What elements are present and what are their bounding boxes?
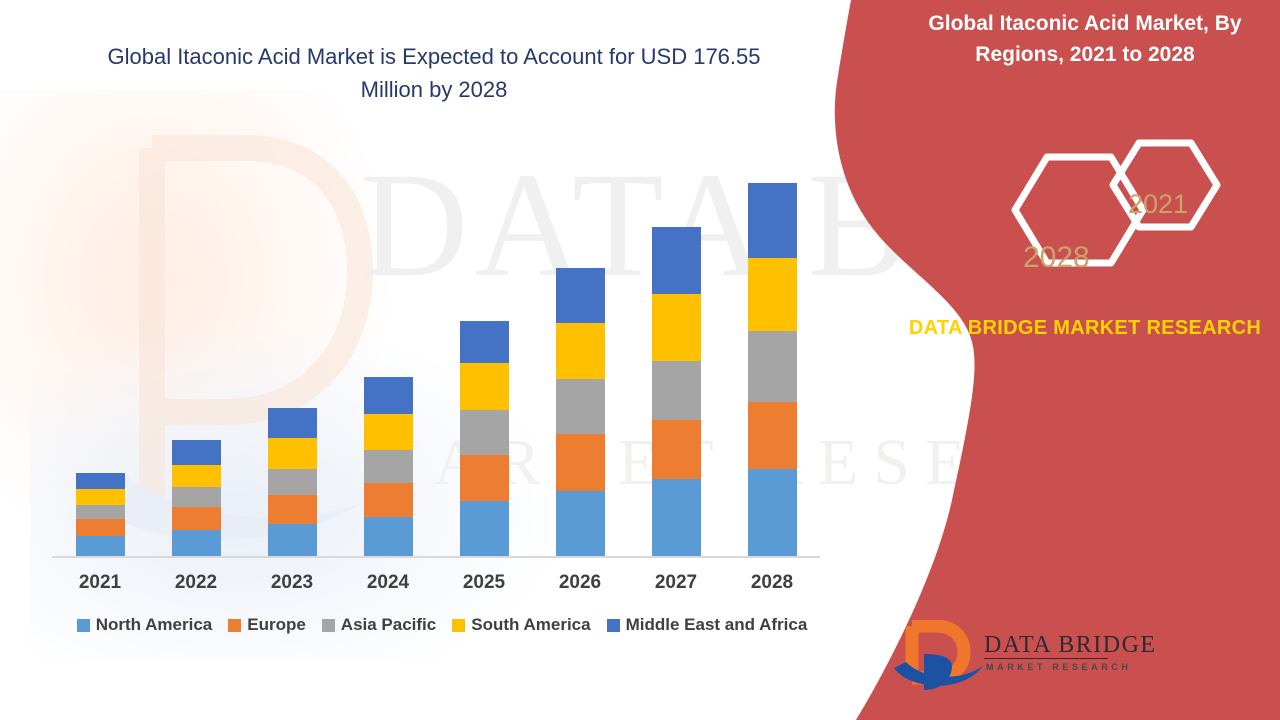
bar-column (724, 150, 820, 556)
logo-divider (984, 658, 1108, 659)
legend-item[interactable]: North America (77, 615, 213, 635)
legend-swatch-icon (452, 619, 465, 632)
bar-segment (460, 455, 509, 502)
bar-segment (556, 379, 605, 434)
bar-column (532, 150, 628, 556)
bar-segment (268, 495, 317, 523)
bar-segment (364, 483, 413, 518)
bar-column (340, 150, 436, 556)
bar-segment (652, 479, 701, 556)
bar-column (52, 150, 148, 556)
legend-item-label: Europe (247, 615, 306, 635)
x-axis-tick-label: 2026 (532, 572, 628, 594)
bar-column (628, 150, 724, 556)
legend-swatch-icon (322, 619, 335, 632)
page-title: Global Itaconic Acid Market is Expected … (84, 40, 784, 106)
legend-item[interactable]: Europe (228, 615, 306, 635)
bar-segment (748, 258, 797, 331)
bar-segment (652, 227, 701, 294)
bar-group (52, 150, 820, 556)
bar-segment (76, 536, 125, 556)
bar-segment (268, 524, 317, 556)
bar-segment (76, 489, 125, 505)
bar-segment (268, 438, 317, 468)
bar-segment (76, 519, 125, 535)
bar-segment (652, 294, 701, 361)
bar-segment (652, 361, 701, 420)
bar-stack (268, 408, 317, 556)
bar-segment (460, 410, 509, 455)
hexagon-badges: 2021 2028 (965, 135, 1265, 295)
bar-segment (748, 331, 797, 402)
bar-stack (748, 183, 797, 557)
legend-item-label: Middle East and Africa (626, 615, 808, 635)
bar-segment (364, 414, 413, 451)
bar-segment (172, 507, 221, 529)
brand-text: DATA BRIDGE MARKET RESEARCH (905, 312, 1265, 344)
hexagon-outlines-icon (965, 135, 1265, 295)
x-axis-tick-label: 2023 (244, 572, 340, 594)
logo-sub-text: MARKET RESEARCH (986, 662, 1132, 672)
bar-segment (76, 473, 125, 489)
bar-segment (652, 420, 701, 479)
bar-segment (460, 363, 509, 410)
x-axis-tick-label: 2027 (628, 572, 724, 594)
bar-segment (172, 440, 221, 464)
bar-segment (364, 377, 413, 414)
bar-segment (556, 434, 605, 491)
legend-swatch-icon (77, 619, 90, 632)
x-axis-tick-label: 2024 (340, 572, 436, 594)
bar-column (148, 150, 244, 556)
bar-stack (652, 227, 701, 556)
hex-label-2021: 2021 (1128, 189, 1188, 220)
legend-item[interactable]: Middle East and Africa (607, 615, 808, 635)
bar-segment (268, 408, 317, 438)
legend-item[interactable]: Asia Pacific (322, 615, 436, 635)
bar-segment (364, 450, 413, 482)
x-axis-tick-label: 2021 (52, 572, 148, 594)
bar-segment (748, 469, 797, 556)
bar-segment (748, 402, 797, 469)
legend-swatch-icon (228, 619, 241, 632)
bar-segment (556, 323, 605, 380)
bar-segment (172, 530, 221, 556)
bar-segment (556, 268, 605, 323)
bar-stack (460, 321, 509, 556)
bar-segment (460, 321, 509, 364)
bar-column (244, 150, 340, 556)
x-axis-tick-label: 2022 (148, 572, 244, 594)
legend-item[interactable]: South America (452, 615, 590, 635)
bar-stack (556, 268, 605, 556)
legend-item-label: South America (471, 615, 590, 635)
chart-plot-area (52, 150, 820, 558)
bar-segment (172, 465, 221, 487)
bar-segment (268, 469, 317, 495)
bar-segment (76, 505, 125, 519)
legend-item-label: North America (96, 615, 213, 635)
bar-stack (76, 473, 125, 556)
panel-title: Global Itaconic Acid Market, By Regions,… (905, 8, 1265, 70)
x-axis-tick-labels: 20212022202320242025202620272028 (52, 572, 820, 602)
bar-stack (172, 440, 221, 556)
bar-segment (172, 487, 221, 507)
bar-segment (460, 501, 509, 556)
legend-item-label: Asia Pacific (341, 615, 436, 635)
logo-main-text: DATA BRIDGE (984, 632, 1157, 659)
bar-segment (556, 491, 605, 556)
x-axis-tick-label: 2025 (436, 572, 532, 594)
hex-label-2028: 2028 (1023, 241, 1090, 275)
right-panel-content: Global Itaconic Acid Market, By Regions,… (905, 0, 1280, 720)
bar-segment (748, 183, 797, 258)
bar-stack (364, 377, 413, 556)
x-axis-line (52, 556, 820, 558)
x-axis-tick-label: 2028 (724, 572, 820, 594)
infographic-canvas: DATA BRIDGE MARKET RESEARCH Global Itaco… (0, 0, 1280, 720)
chart-legend: North AmericaEuropeAsia PacificSouth Ame… (52, 615, 832, 635)
logo-mark-icon (890, 620, 986, 694)
bar-column (436, 150, 532, 556)
company-logo: DATA BRIDGE MARKET RESEARCH (890, 620, 1120, 700)
bar-segment (364, 517, 413, 556)
legend-swatch-icon (607, 619, 620, 632)
